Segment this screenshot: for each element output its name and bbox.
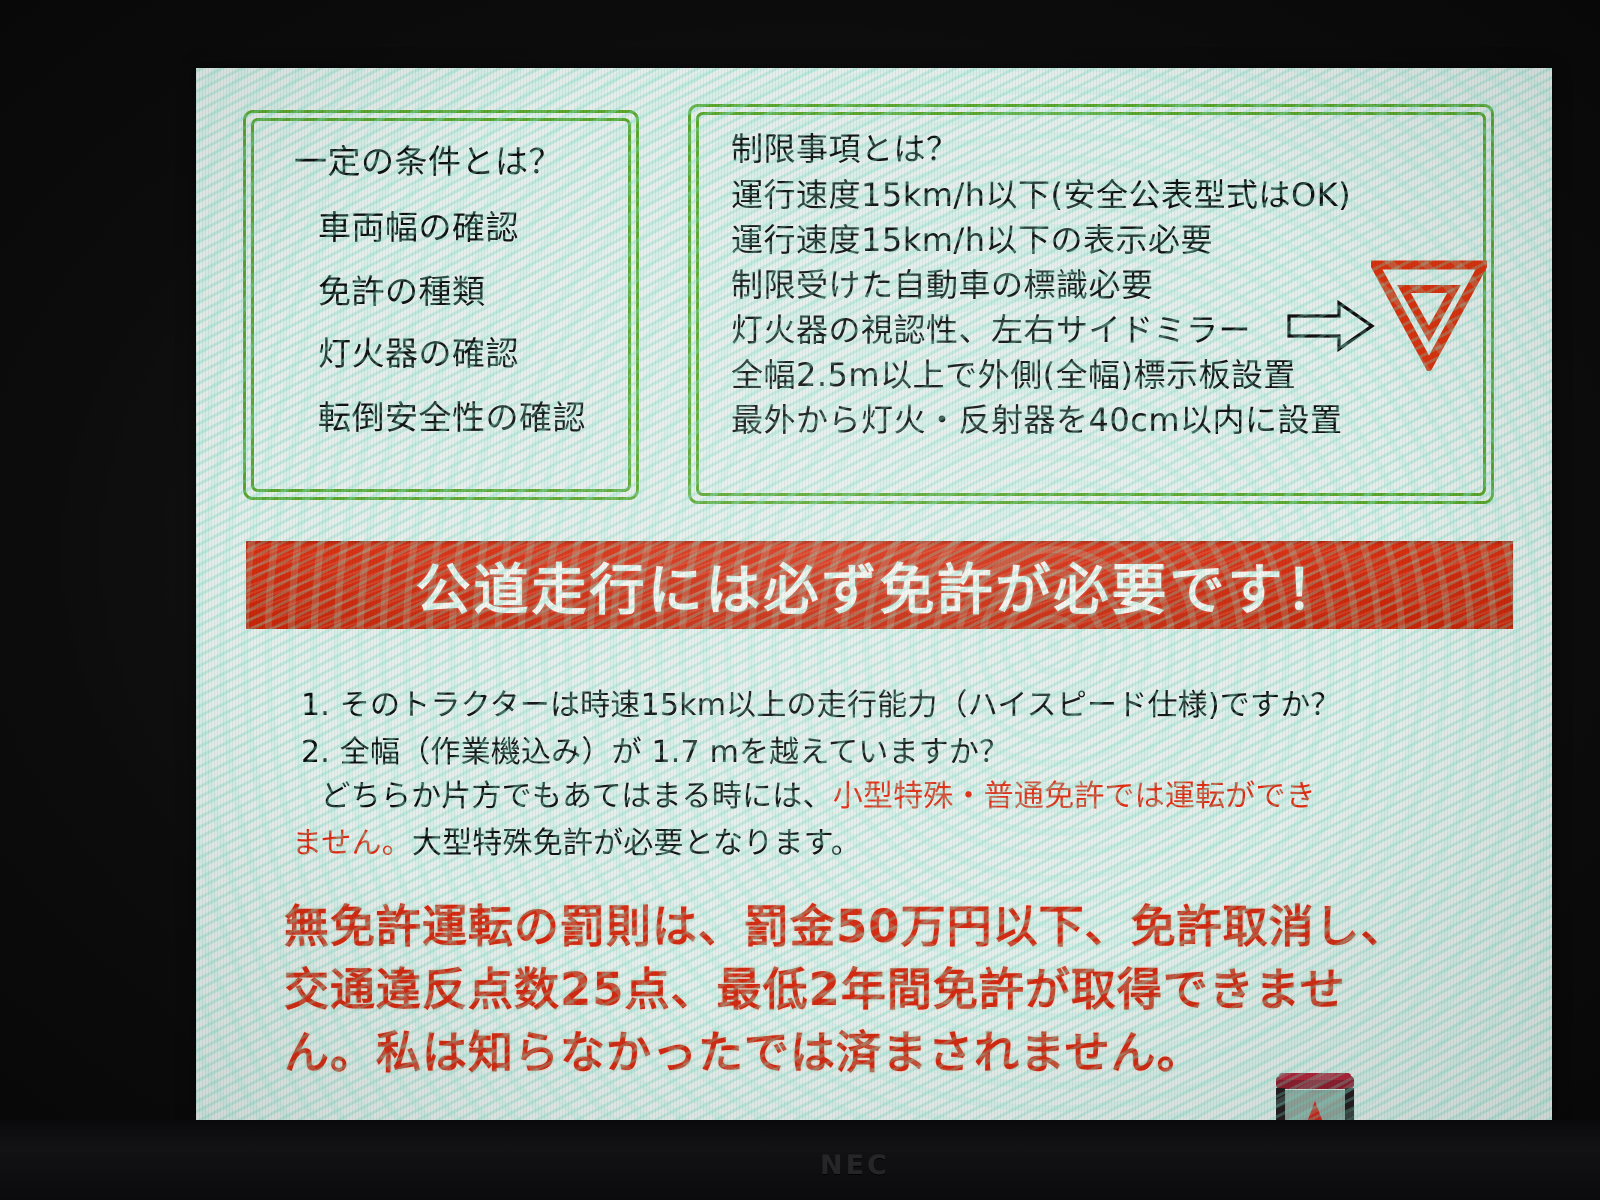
question-1-number: 1. bbox=[301, 688, 330, 723]
conditions-item-vehicle-width: 車両幅の確認 bbox=[318, 201, 519, 249]
note-line-1: どちらか片方でもあてはまる時には、小型特殊・普通免許では運転ができ bbox=[301, 771, 1316, 815]
note-line-2: ません。大型特殊免許が必要となります。 bbox=[292, 818, 861, 862]
restrictions-box-title: 制限事項とは？ bbox=[731, 124, 959, 170]
restrictions-box: 制限事項とは？ 運行速度15km/h以下(安全公表型式はOK) 運行速度15km… bbox=[688, 104, 1494, 504]
penalty-line-3: ん。私は知らなかったでは済まされません。 bbox=[284, 1016, 1203, 1081]
note-line-1-black: どちらか片方でもあてはまる時には、 bbox=[320, 779, 832, 814]
question-item-2: 2. 全幅（作業機込み）が 1.7 mを越えていますか？ bbox=[301, 727, 1009, 771]
conditions-box: 一定の条件とは？ 車両幅の確認 免許の種類 灯火器の確認 転倒安全性の確認 bbox=[243, 110, 639, 500]
right-arrow-icon bbox=[1287, 299, 1375, 357]
note-line-1-red: 小型特殊・普通免許では運転ができ bbox=[833, 779, 1316, 814]
restrictions-item-reflector-position: 最外から灯火・反射器を40cm以内に設置 bbox=[731, 395, 1343, 441]
nec-brand-logo: NEC bbox=[820, 1150, 890, 1181]
conditions-item-rollover-safety: 転倒安全性の確認 bbox=[318, 391, 586, 439]
restrictions-item-lamp-visibility: 灯火器の視認性、左右サイドミラー bbox=[731, 305, 1251, 351]
penalty-line-2: 交通違反点数25点、最低2年間免許が取得できませ bbox=[284, 953, 1346, 1018]
conditions-item-license-type: 免許の種類 bbox=[318, 265, 486, 313]
note-line-2-red: ません。 bbox=[292, 826, 412, 861]
restricted-vehicle-triangle-icon bbox=[1371, 259, 1487, 375]
conditions-box-title: 一定の条件とは？ bbox=[294, 135, 562, 183]
note-line-2-black: 大型特殊免許が必要となります。 bbox=[412, 826, 861, 861]
license-required-banner-text: 公道走行には必ず免許が必要です！ bbox=[246, 541, 1513, 629]
presentation-slide: 一定の条件とは？ 車両幅の確認 免許の種類 灯火器の確認 転倒安全性の確認 制限… bbox=[196, 68, 1552, 1120]
restrictions-item-speed-limit: 運行速度15km/h以下(安全公表型式はOK) bbox=[731, 170, 1351, 216]
conditions-item-lights-check: 灯火器の確認 bbox=[318, 327, 519, 375]
monitor-bezel-bottom bbox=[0, 1120, 1600, 1200]
restrictions-item-width-board: 全幅2.5m以上で外側(全幅)標示板設置 bbox=[731, 350, 1296, 396]
question-2-number: 2. bbox=[301, 735, 330, 770]
question-2-text: 全幅（作業機込み）が 1.7 mを越えていますか？ bbox=[340, 735, 1010, 770]
restrictions-item-vehicle-sign: 制限受けた自動車の標識必要 bbox=[731, 260, 1154, 306]
tractor-photo bbox=[1246, 1068, 1386, 1120]
license-required-banner: 公道走行には必ず免許が必要です！ bbox=[246, 541, 1513, 629]
question-item-1: 1. そのトラクターは時速15km以上の走行能力（ハイスピード仕様)ですか？ bbox=[301, 680, 1341, 724]
restrictions-item-speed-display: 運行速度15km/h以下の表示必要 bbox=[731, 215, 1213, 261]
photographed-monitor: 一定の条件とは？ 車両幅の確認 免許の種類 灯火器の確認 転倒安全性の確認 制限… bbox=[0, 0, 1600, 1200]
penalty-line-1: 無免許運転の罰則は、罰金50万円以下、免許取消し、 bbox=[284, 890, 1407, 955]
question-1-text: そのトラクターは時速15km以上の走行能力（ハイスピード仕様)ですか？ bbox=[340, 688, 1341, 723]
